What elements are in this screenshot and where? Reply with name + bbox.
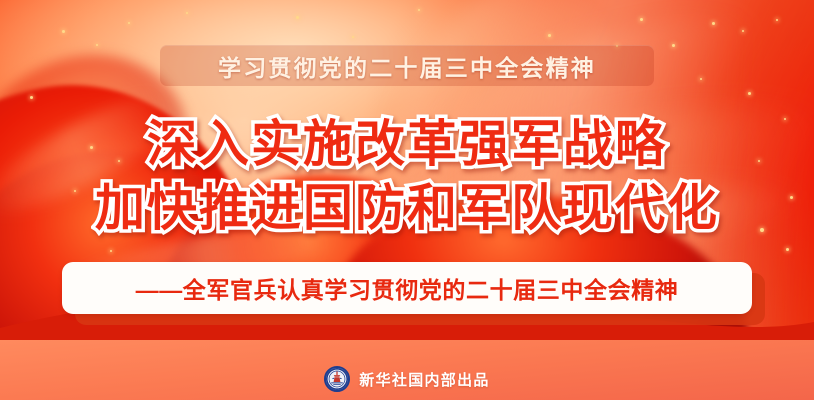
headline-line-1: 深入实施改革强军战略 (0, 112, 814, 176)
headline-block: 深入实施改革强军战略 加快推进国防和军队现代化 (0, 112, 814, 240)
subtitle-container: ——全军官兵认真学习贯彻党的二十届三中全会精神 (62, 262, 752, 314)
subtitle-text: ——全军官兵认真学习贯彻党的二十届三中全会精神 (136, 271, 679, 305)
top-banner-pill: 学习贯彻党的二十届三中全会精神 (160, 45, 654, 86)
footer-credit: 新华社国内部出品 (0, 366, 814, 392)
top-banner-text: 学习贯彻党的二十届三中全会精神 (218, 49, 596, 83)
headline-line-2: 加快推进国防和军队现代化 (0, 176, 814, 240)
propaganda-poster: 学习贯彻党的二十届三中全会精神 深入实施改革强军战略 加快推进国防和军队现代化 … (0, 0, 814, 400)
xinhua-agency-logo-icon (324, 366, 350, 392)
subtitle-box: ——全军官兵认真学习贯彻党的二十届三中全会精神 (62, 262, 752, 314)
credit-text: 新华社国内部出品 (359, 369, 489, 390)
